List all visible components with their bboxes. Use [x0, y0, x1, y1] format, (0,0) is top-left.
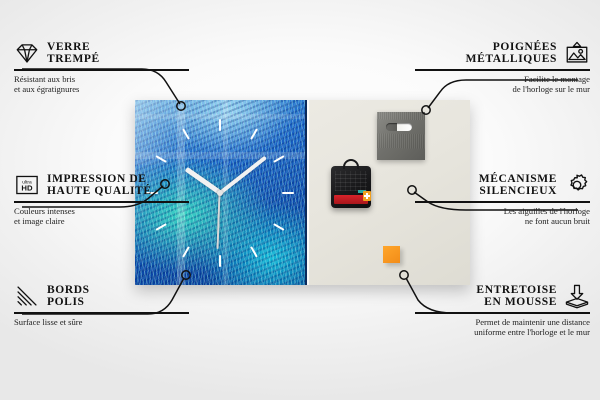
feature-rule	[14, 201, 189, 203]
hanging-frame-icon	[564, 40, 590, 66]
feature-title: MÉCANISME SILENCIEUX	[479, 173, 557, 198]
feature-title: BORDS POLIS	[47, 284, 90, 309]
feature-description: Résistant aux bris et aux égratignures	[14, 74, 189, 95]
feature-rule	[14, 69, 189, 71]
feature-title: ENTRETOISE EN MOUSSE	[476, 284, 557, 309]
feature-header: BORDS POLIS	[14, 283, 189, 309]
feature-rule	[415, 69, 590, 71]
polished-edge-icon	[14, 283, 40, 309]
feature-description: Surface lisse et sûre	[14, 317, 189, 328]
feature-title: VERRE TREMPÉ	[47, 41, 100, 66]
feature-impression-haute-qualite[interactable]: ultra HD IMPRESSION DE HAUTE QUALITÉ Cou…	[14, 172, 189, 227]
feature-title: IMPRESSION DE HAUTE QUALITÉ	[47, 173, 152, 198]
gear-icon	[564, 172, 590, 198]
feature-bords-polis[interactable]: BORDS POLIS Surface lisse et sûre	[14, 283, 189, 327]
feature-header: VERRE TREMPÉ	[14, 40, 189, 66]
diamond-icon	[14, 40, 40, 66]
press-down-foam-icon	[564, 283, 590, 309]
feature-header: ENTRETOISE EN MOUSSE	[415, 283, 590, 309]
feature-header: ultra HD IMPRESSION DE HAUTE QUALITÉ	[14, 172, 189, 198]
ultra-hd-icon: ultra HD	[14, 172, 40, 198]
feature-description: Les aiguilles de l'horloge ne font aucun…	[415, 206, 590, 227]
feature-description: Facilite le montage de l'horloge sur le …	[415, 74, 590, 95]
feature-header: POIGNÉES MÉTALLIQUES	[415, 40, 590, 66]
feature-rule	[415, 201, 590, 203]
feature-verre-trempe[interactable]: VERRE TREMPÉ Résistant aux bris et aux é…	[14, 40, 189, 95]
feature-rule	[415, 312, 590, 314]
feature-title: POIGNÉES MÉTALLIQUES	[466, 41, 557, 66]
feature-entretoise-en-mousse[interactable]: ENTRETOISE EN MOUSSE Permet de maintenir…	[415, 283, 590, 338]
feature-description: Couleurs intenses et image claire	[14, 206, 189, 227]
feature-poignees-metalliques[interactable]: POIGNÉES MÉTALLIQUES Facilite le montage…	[415, 40, 590, 95]
feature-header: MÉCANISME SILENCIEUX	[415, 172, 590, 198]
feature-mecanisme-silencieux[interactable]: MÉCANISME SILENCIEUX Les aiguilles de l'…	[415, 172, 590, 227]
svg-text:HD: HD	[21, 184, 33, 193]
feature-description: Permet de maintenir une distance uniform…	[415, 317, 590, 338]
feature-rule	[14, 312, 189, 314]
